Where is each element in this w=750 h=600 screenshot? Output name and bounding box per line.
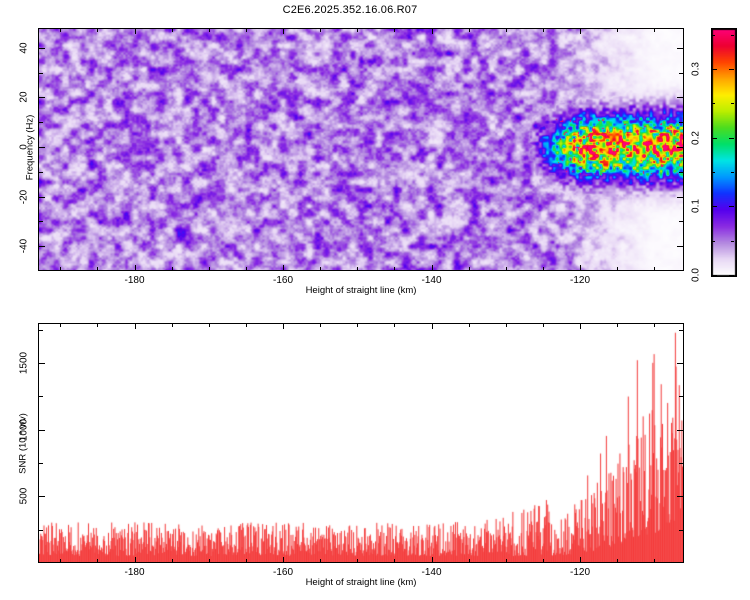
x-minor-tickmark bbox=[283, 267, 284, 270]
y-minor-tickmark bbox=[39, 530, 43, 531]
colorbar-tickmark bbox=[712, 275, 717, 276]
colorbar-tick-label: 0.0 bbox=[691, 262, 702, 288]
x-minor-tickmark bbox=[432, 324, 433, 327]
y-minor-tickmark bbox=[39, 496, 43, 497]
x-minor-tickmark bbox=[543, 559, 544, 562]
y-minor-tickmark bbox=[679, 197, 683, 198]
x-minor-tickmark bbox=[617, 29, 618, 32]
colorbar-tickmark bbox=[729, 275, 734, 276]
x-minor-tickmark bbox=[97, 267, 98, 270]
y-minor-tickmark bbox=[39, 396, 43, 397]
spectrogram-x-axis-label: Height of straight line (km) bbox=[306, 285, 417, 296]
y-minor-tickmark bbox=[39, 147, 43, 148]
x-minor-tickmark bbox=[283, 559, 284, 562]
y-minor-tickmark bbox=[679, 496, 683, 497]
y-minor-tickmark bbox=[679, 246, 683, 247]
y-minor-tickmark bbox=[679, 330, 683, 331]
colorbar-minor-tickmark bbox=[731, 138, 734, 139]
x-minor-tickmark bbox=[469, 267, 470, 270]
x-minor-tickmark bbox=[394, 29, 395, 32]
x-minor-tickmark bbox=[97, 324, 98, 327]
x-minor-tickmark bbox=[283, 324, 284, 327]
y-minor-tickmark bbox=[679, 430, 683, 431]
y-minor-tickmark bbox=[679, 172, 683, 173]
x-minor-tickmark bbox=[580, 324, 581, 327]
x-tick-label: -120 bbox=[570, 567, 590, 578]
x-tick-label: -140 bbox=[422, 275, 442, 286]
x-minor-tickmark bbox=[246, 29, 247, 32]
colorbar-minor-tickmark bbox=[712, 241, 715, 242]
y-minor-tickmark bbox=[679, 48, 683, 49]
x-minor-tickmark bbox=[283, 29, 284, 32]
snr-trace bbox=[39, 324, 683, 562]
x-minor-tickmark bbox=[135, 324, 136, 327]
colorbar-minor-tickmark bbox=[712, 69, 715, 70]
x-minor-tickmark bbox=[135, 29, 136, 32]
x-minor-tickmark bbox=[135, 267, 136, 270]
x-minor-tickmark bbox=[580, 559, 581, 562]
y-tick-label: 1500 bbox=[19, 351, 30, 375]
x-minor-tickmark bbox=[60, 559, 61, 562]
x-minor-tickmark bbox=[60, 324, 61, 327]
colorbar-minor-tickmark bbox=[731, 103, 734, 104]
colorbar-minor-tickmark bbox=[731, 241, 734, 242]
colorbar-tick-label: 0.2 bbox=[691, 125, 702, 151]
x-tick-label: -180 bbox=[125, 567, 145, 578]
snr-y-axis-label: SNR (10 * v/v) bbox=[18, 384, 29, 504]
x-tick-label: -160 bbox=[273, 567, 293, 578]
x-minor-tickmark bbox=[135, 559, 136, 562]
x-tick-label: -160 bbox=[273, 275, 293, 286]
colorbar-minor-tickmark bbox=[712, 138, 715, 139]
y-minor-tickmark bbox=[39, 330, 43, 331]
x-minor-tickmark bbox=[97, 559, 98, 562]
x-minor-tickmark bbox=[469, 559, 470, 562]
x-minor-tickmark bbox=[469, 324, 470, 327]
y-minor-tickmark bbox=[679, 363, 683, 364]
x-minor-tickmark bbox=[469, 29, 470, 32]
colorbar-tick-label: 0.3 bbox=[691, 56, 702, 82]
colorbar-minor-tickmark bbox=[731, 69, 734, 70]
x-tick-label: -120 bbox=[570, 275, 590, 286]
colorbar-minor-tickmark bbox=[731, 35, 734, 36]
x-minor-tickmark bbox=[246, 559, 247, 562]
x-minor-tickmark bbox=[357, 29, 358, 32]
spectrogram-panel bbox=[38, 28, 684, 271]
colorbar-minor-tickmark bbox=[712, 172, 715, 173]
y-minor-tickmark bbox=[679, 463, 683, 464]
x-minor-tickmark bbox=[357, 324, 358, 327]
x-minor-tickmark bbox=[543, 267, 544, 270]
page-title: C2E6.2025.352.16.06.R07 bbox=[0, 4, 700, 16]
x-minor-tickmark bbox=[246, 267, 247, 270]
y-minor-tickmark bbox=[39, 97, 43, 98]
x-minor-tickmark bbox=[209, 29, 210, 32]
spectrogram-image bbox=[39, 29, 683, 270]
x-minor-tickmark bbox=[172, 324, 173, 327]
x-minor-tickmark bbox=[506, 559, 507, 562]
y-tick-label: 40 bbox=[19, 36, 30, 60]
x-minor-tickmark bbox=[654, 267, 655, 270]
x-minor-tickmark bbox=[506, 324, 507, 327]
y-minor-tickmark bbox=[679, 530, 683, 531]
x-minor-tickmark bbox=[617, 267, 618, 270]
y-minor-tickmark bbox=[679, 97, 683, 98]
x-minor-tickmark bbox=[543, 29, 544, 32]
x-minor-tickmark bbox=[320, 267, 321, 270]
y-minor-tickmark bbox=[39, 363, 43, 364]
y-tick-label: -40 bbox=[19, 234, 30, 258]
x-minor-tickmark bbox=[97, 29, 98, 32]
x-minor-tickmark bbox=[654, 324, 655, 327]
x-minor-tickmark bbox=[432, 267, 433, 270]
x-minor-tickmark bbox=[357, 559, 358, 562]
y-minor-tickmark bbox=[679, 221, 683, 222]
x-minor-tickmark bbox=[394, 324, 395, 327]
x-minor-tickmark bbox=[506, 267, 507, 270]
x-minor-tickmark bbox=[394, 559, 395, 562]
x-minor-tickmark bbox=[320, 29, 321, 32]
y-minor-tickmark bbox=[39, 246, 43, 247]
x-tick-label: -140 bbox=[422, 567, 442, 578]
x-minor-tickmark bbox=[209, 267, 210, 270]
x-minor-tickmark bbox=[617, 324, 618, 327]
y-minor-tickmark bbox=[679, 122, 683, 123]
y-minor-tickmark bbox=[679, 396, 683, 397]
y-minor-tickmark bbox=[39, 48, 43, 49]
x-minor-tickmark bbox=[60, 29, 61, 32]
x-minor-tickmark bbox=[617, 559, 618, 562]
x-minor-tickmark bbox=[246, 324, 247, 327]
x-minor-tickmark bbox=[60, 267, 61, 270]
snr-x-axis-label: Height of straight line (km) bbox=[306, 577, 417, 588]
colorbar-minor-tickmark bbox=[712, 103, 715, 104]
x-minor-tickmark bbox=[172, 267, 173, 270]
y-minor-tickmark bbox=[39, 73, 43, 74]
colorbar-minor-tickmark bbox=[731, 206, 734, 207]
colorbar-minor-tickmark bbox=[712, 35, 715, 36]
x-minor-tickmark bbox=[209, 559, 210, 562]
colorbar-minor-tickmark bbox=[731, 172, 734, 173]
x-minor-tickmark bbox=[654, 29, 655, 32]
colorbar-gradient bbox=[712, 29, 736, 276]
x-minor-tickmark bbox=[580, 29, 581, 32]
x-minor-tickmark bbox=[209, 324, 210, 327]
y-minor-tickmark bbox=[39, 430, 43, 431]
x-minor-tickmark bbox=[172, 29, 173, 32]
y-minor-tickmark bbox=[39, 221, 43, 222]
y-minor-tickmark bbox=[39, 122, 43, 123]
x-minor-tickmark bbox=[320, 324, 321, 327]
spectrogram-y-axis-label: Frequency (Hz) bbox=[25, 93, 36, 203]
colorbar-tick-label: 0.1 bbox=[691, 193, 702, 219]
x-minor-tickmark bbox=[432, 559, 433, 562]
x-minor-tickmark bbox=[654, 559, 655, 562]
x-minor-tickmark bbox=[320, 559, 321, 562]
x-minor-tickmark bbox=[432, 29, 433, 32]
y-minor-tickmark bbox=[39, 197, 43, 198]
figure-root: C2E6.2025.352.16.06.R07 -180-160-140-120… bbox=[0, 0, 750, 600]
y-minor-tickmark bbox=[679, 147, 683, 148]
y-minor-tickmark bbox=[679, 73, 683, 74]
colorbar-minor-tickmark bbox=[712, 206, 715, 207]
x-tick-label: -180 bbox=[125, 275, 145, 286]
snr-panel bbox=[38, 323, 684, 563]
x-minor-tickmark bbox=[357, 267, 358, 270]
x-minor-tickmark bbox=[394, 267, 395, 270]
y-minor-tickmark bbox=[39, 463, 43, 464]
x-minor-tickmark bbox=[506, 29, 507, 32]
y-minor-tickmark bbox=[39, 172, 43, 173]
x-minor-tickmark bbox=[172, 559, 173, 562]
colorbar bbox=[711, 28, 737, 277]
x-minor-tickmark bbox=[580, 267, 581, 270]
x-minor-tickmark bbox=[543, 324, 544, 327]
